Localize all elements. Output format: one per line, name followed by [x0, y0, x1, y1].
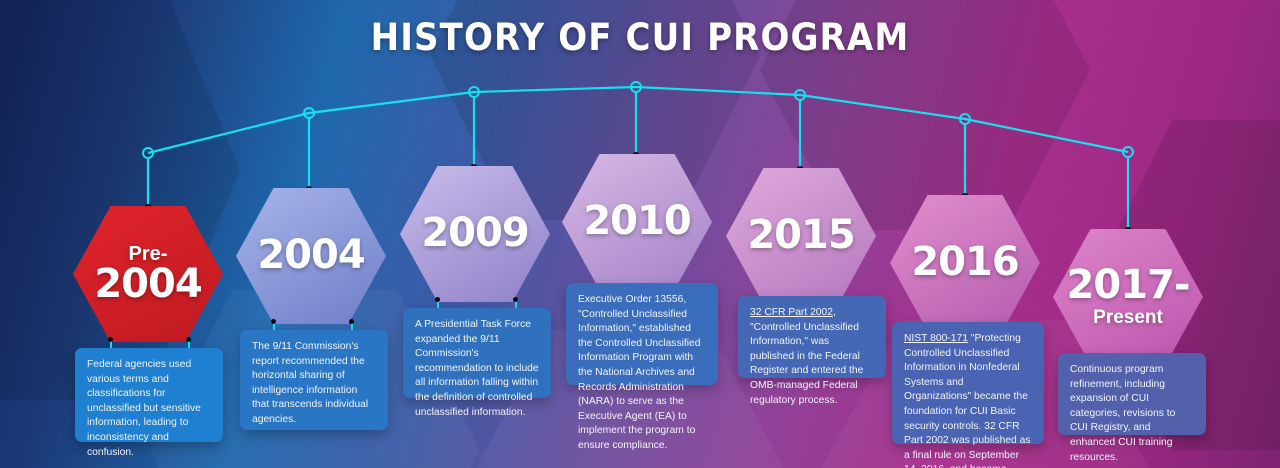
card-link[interactable]: 32 CFR Part 2002	[750, 307, 833, 318]
hex-label-line2: 2004	[94, 265, 201, 304]
hex-label-line2: 2016	[911, 243, 1018, 282]
hex-label-line2: 2009	[421, 214, 528, 253]
hex-label-line2: 2010	[583, 202, 690, 241]
hex-label-line2: Present	[1093, 308, 1163, 328]
infographic-canvas: HISTORY OF CUI PROGRAM Pre- 2004	[0, 0, 1280, 468]
card-link[interactable]: NIST 800-171	[904, 333, 968, 344]
card-text: The 9/11 Commission's report recommended…	[252, 341, 368, 425]
card-text: "Protecting Controlled Unclassified Info…	[904, 333, 1031, 468]
timeline-card-2016[interactable]: NIST 800-171 "Protecting Controlled Uncl…	[892, 322, 1044, 444]
hex-label-line1: 2017-	[1067, 266, 1190, 305]
card-text: A Presidential Task Force expanded the 9…	[415, 319, 539, 418]
card-text: , "Controlled Unclassified Information,"…	[750, 307, 863, 406]
hex-label-line2: 2015	[747, 216, 854, 255]
timeline-card-2015[interactable]: 32 CFR Part 2002, "Controlled Unclassifi…	[738, 296, 886, 378]
timeline-card-pre-2004[interactable]: Federal agencies used various terms and …	[75, 348, 223, 442]
card-text: Continuous program refinement, including…	[1070, 364, 1175, 463]
card-text: Executive Order 13556, "Controlled Uncla…	[578, 294, 700, 451]
timeline-card-2010[interactable]: Executive Order 13556, "Controlled Uncla…	[566, 283, 718, 385]
hex-label-line2: 2004	[257, 236, 364, 275]
timeline-card-2017-present[interactable]: Continuous program refinement, including…	[1058, 353, 1206, 435]
timeline-card-2004[interactable]: The 9/11 Commission's report recommended…	[240, 330, 388, 430]
timeline-card-2009[interactable]: A Presidential Task Force expanded the 9…	[403, 308, 551, 398]
